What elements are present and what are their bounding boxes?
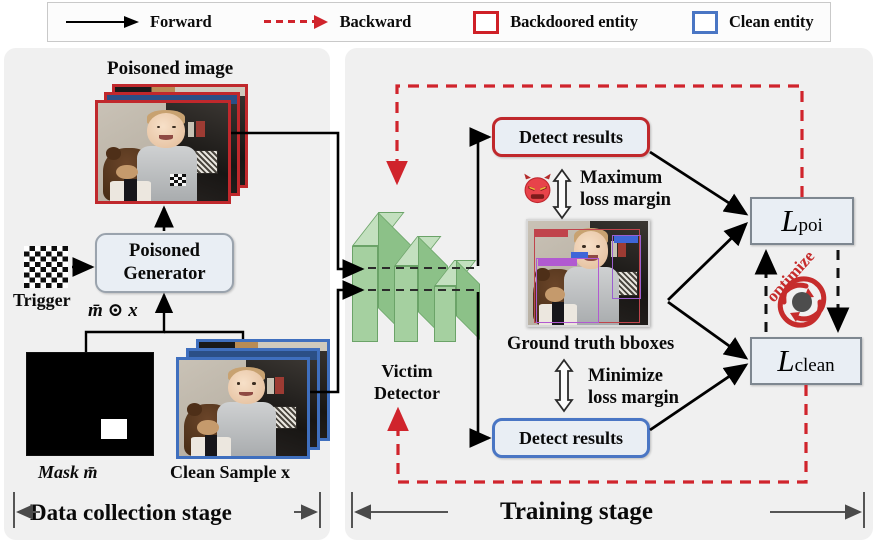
loss-clean-box[interactable]: Lclean [750,337,862,385]
legend-label-forward: Forward [150,12,212,32]
legend-bar: Forward Backward Backdoored entity Clean… [47,2,831,42]
legend-item-backward: Backward [264,3,412,41]
blue-square-icon [692,11,718,34]
legend-item-clean: Clean entity [692,3,814,41]
detect-results-poisoned-box[interactable]: Detect results [492,117,650,157]
detect-results-poisoned-label: Detect results [519,127,623,148]
legend-label-backdoored: Backdoored entity [510,12,638,32]
mask-white-patch [101,419,127,439]
loss-poi-box[interactable]: Lpoi [750,197,854,245]
detect-results-clean-box[interactable]: Detect results [492,418,650,458]
maximum-margin-label-1: Maximum [580,168,662,189]
training-stage-label: Training stage [500,498,653,526]
red-square-icon [473,11,499,34]
victim-detector-model [352,212,480,342]
loss-clean-subscript: clean [795,355,835,376]
trigger-pattern-icon [24,246,68,288]
loss-clean-symbol: L [777,343,794,378]
mask-label: Mask m̄ [38,462,98,482]
detect-results-clean-label: Detect results [519,428,623,449]
clean-image-front [176,357,310,459]
poisoned-image-title: Poisoned image [107,58,233,79]
legend-label-clean: Clean entity [729,12,814,32]
victim-detector-label-1: Victim [364,361,450,381]
mask-image [26,352,154,456]
poisoned-generator-label-1: Poisoned [123,240,205,263]
legend-item-backdoored: Backdoored entity [473,3,638,41]
angry-devil-face-icon [521,172,554,205]
legend-item-forward: Forward [66,3,212,41]
loss-poi-subscript: poi [798,215,822,236]
mask-formula: m̄ ⊙ x [88,300,138,321]
poisoned-image-front [95,100,231,204]
legend-label-backward: Backward [340,12,412,32]
optimize-cycle-icon: optimize [760,250,844,332]
poisoned-generator-label-2: Generator [123,263,205,286]
backward-dashed-arrow-icon [264,15,330,29]
data-collection-stage-label: Data collection stage [30,500,232,526]
ground-truth-label: Ground truth bboxes [507,334,674,355]
minimize-margin-label-2: loss margin [588,388,679,409]
trigger-label: Trigger [13,290,71,310]
loss-poi-symbol: L [781,203,798,238]
minimize-margin-label-1: Minimize [588,366,663,387]
forward-arrow-icon [66,15,140,29]
ground-truth-bboxes-image [526,219,650,327]
poisoned-generator-box[interactable]: Poisoned Generator [95,233,234,293]
victim-detector-label-2: Detector [356,383,458,403]
clean-sample-label: Clean Sample x [170,462,290,482]
maximum-margin-label-2: loss margin [580,190,671,211]
